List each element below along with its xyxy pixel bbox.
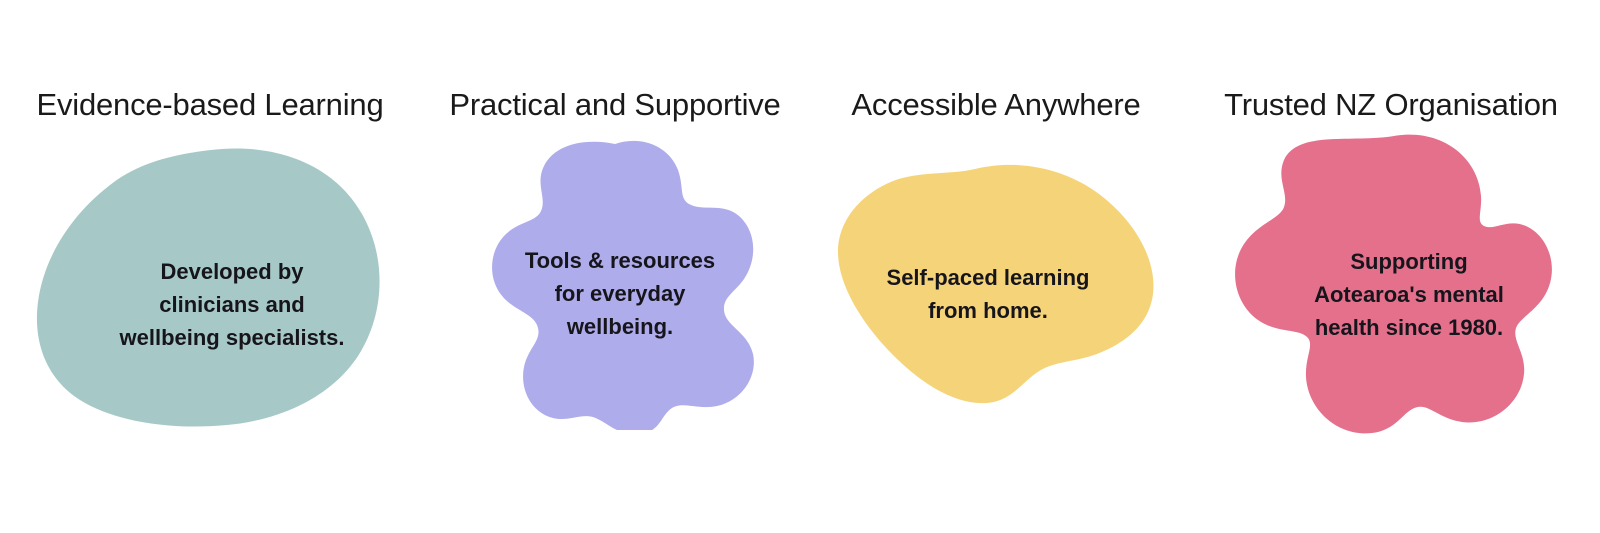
blob-line: Self-paced learning (887, 261, 1090, 294)
card-heading-3: Trusted NZ Organisation (1224, 88, 1558, 122)
blob-line: health since 1980. (1315, 311, 1503, 344)
blob-shape-practical: Tools & resources for everyday wellbeing… (465, 140, 765, 430)
blob-text-evidence: Developed by clinicians and wellbeing sp… (57, 162, 407, 447)
blob-shape-evidence: Developed by clinicians and wellbeing sp… (35, 144, 385, 429)
card-heading-0: Evidence-based Learning (37, 88, 384, 122)
feature-blob-board: Evidence-based Learning Developed by cli… (0, 0, 1600, 533)
blob-text-practical: Tools & resources for everyday wellbeing… (470, 148, 770, 438)
blob-line: clinicians and (159, 288, 305, 321)
blob-line: wellbeing. (567, 310, 673, 343)
blob-shape-trusted: Supporting Aotearoa's mental health sinc… (1226, 134, 1556, 434)
blob-shape-accessible: Self-paced learning from home. (835, 164, 1157, 404)
feature-columns: Evidence-based Learning Developed by cli… (0, 0, 1600, 533)
blob-text-trusted: Supporting Aotearoa's mental health sinc… (1244, 144, 1574, 444)
blob-text-accessible: Self-paced learning from home. (827, 174, 1149, 414)
feature-card-practical-and-supportive: Practical and Supportive Tools & resourc… (420, 0, 810, 533)
feature-card-accessible-anywhere: Accessible Anywhere Self-paced learning … (810, 0, 1182, 533)
card-heading-2: Accessible Anywhere (851, 88, 1140, 122)
card-heading-1: Practical and Supportive (449, 88, 780, 122)
blob-line: Developed by (160, 255, 303, 288)
blob-line: Aotearoa's mental (1314, 278, 1504, 311)
feature-card-evidence-based-learning: Evidence-based Learning Developed by cli… (0, 0, 420, 533)
blob-line: Supporting (1350, 245, 1467, 278)
blob-line: Tools & resources (525, 244, 715, 277)
blob-line: from home. (928, 294, 1048, 327)
feature-card-trusted-nz-organisation: Trusted NZ Organisation Supporting Aotea… (1182, 0, 1600, 533)
blob-line: for everyday (555, 277, 686, 310)
blob-line: wellbeing specialists. (120, 321, 345, 354)
